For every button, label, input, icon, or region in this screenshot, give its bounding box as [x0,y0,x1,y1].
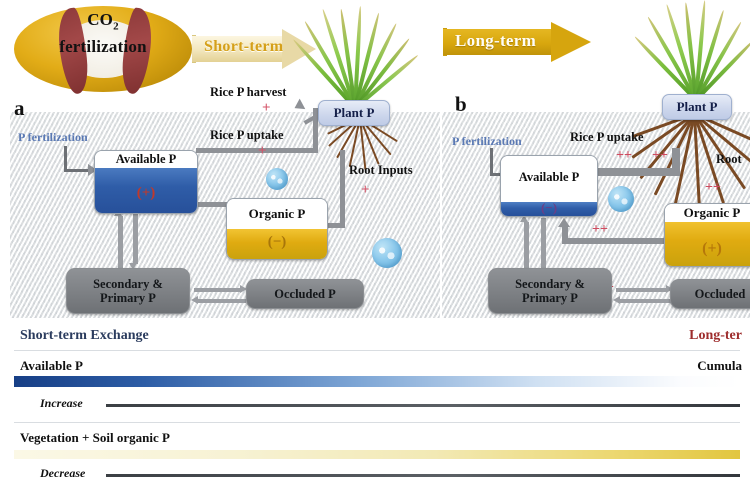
root-inputs-label-a: Root Inputs [349,163,413,178]
uptake-arrow-vert-b [672,148,680,176]
mineralization-arrow-horiz-b [562,238,672,244]
secondary-primary-p-line2-a: Primary P [93,291,163,305]
occluded-p-label-b: Occluded [695,287,746,301]
organic-p-label-b: Organic P [665,204,750,222]
plus-mark-harvest-a: + [262,100,271,117]
rice-p-harvest-label-a: Rice P harvest [210,85,286,100]
p-fertilization-label-b: P fertilization [452,134,522,149]
co2-label-line1: CO [87,10,113,29]
legend-rule-top [14,350,740,351]
legend-cumulative-label: Cumula [697,358,742,374]
plant-p-pool-b[interactable]: Plant P [662,94,732,120]
available-p-label-a: Available P [95,151,197,168]
water-globe-icon-a1 [266,168,288,190]
p-fert-arrow-vert-b [490,148,493,176]
legend-increase-label: Increase [40,396,83,411]
legend-header-short-term: Short-term Exchange [20,328,149,344]
plus-mark-root-b: ++ [705,180,721,196]
secondary-to-avail-up2-b [541,218,546,274]
water-globe-icon-b1 [608,186,634,212]
legend-row2-title: Vegetation + Soil organic P [20,430,170,446]
increase-axis-line [106,404,740,407]
co2-fertilization-label: CO2 fertilization [14,8,192,58]
available-p-label-b: Available P [501,156,597,198]
available-p-pool-b[interactable]: Available P (−) [500,155,598,217]
plant-p-label-a: Plant P [334,105,375,121]
organic-p-sign-b: (+) [665,240,750,258]
plus-mark-root-inputs-a: + [361,182,370,199]
uptake-arrow-b [594,168,678,176]
organic-p-label-a: Organic P [227,199,327,229]
rice-plant-a [298,4,408,108]
plus-mark-uptake-a: + [258,143,267,160]
avail-to-secondary-up-a [118,216,123,268]
occluded-to-secondary-tip-b [613,296,620,304]
occluded-to-secondary-tip-a [191,296,198,304]
rice-p-uptake-label-a: Rice P uptake [210,128,284,143]
secondary-to-occluded-a [194,288,242,292]
decrease-axis-line [106,474,740,477]
secondary-to-avail-up1-b [524,222,529,274]
secondary-primary-p-pool-b[interactable]: Secondary & Primary P [488,268,612,314]
avail-to-secondary-down-a [133,212,138,264]
co2-label-line2: fertilization [59,37,147,56]
rice-plant-b [638,0,750,100]
legend-panel: Short-term Exchange Long-ter Available P… [0,318,750,500]
secondary-primary-p-line1-b: Secondary & [515,277,585,291]
occluded-p-pool-a[interactable]: Occluded P [246,279,364,309]
p-fert-arrow-horiz-a [64,169,90,172]
available-p-gradient-bar [14,376,740,387]
legend-rule-mid [14,422,740,423]
occluded-to-secondary-b [620,299,672,303]
available-p-sign-b: (−) [501,200,597,216]
root-inputs-arrow-vert-a [340,150,345,228]
vegetation-soil-organic-p-gradient-bar [14,450,740,459]
secondary-to-occluded-b [616,288,668,292]
plant-p-label-b: Plant P [677,99,718,115]
panel-a-letter: a [14,96,25,121]
occluded-p-label-a: Occluded P [274,287,335,301]
water-globe-icon-a2 [372,238,402,268]
legend-row1-title: Available P [20,358,83,374]
co2-fertilization-graphic: CO2 fertilization [14,2,192,98]
plant-p-pool-a[interactable]: Plant P [318,100,390,126]
occluded-to-secondary-a [198,299,246,303]
plus-mark-uptake-b2: ++ [652,148,668,164]
available-p-sign-a: (+) [95,185,197,202]
legend-decrease-label: Decrease [40,466,85,481]
secondary-primary-p-pool-a[interactable]: Secondary & Primary P [66,268,190,314]
organic-p-pool-a[interactable]: Organic P (−) [226,198,328,260]
secondary-primary-p-line1-a: Secondary & [93,277,163,291]
occluded-p-pool-b[interactable]: Occluded [670,279,750,309]
plus-mark-uptake-b1: ++ [616,148,632,164]
plus-mark-mineralization-b: ++ [592,222,608,238]
p-fertilization-label-a: P fertilization [18,130,88,145]
organic-p-pool-b[interactable]: Organic P (+) [664,203,750,267]
secondary-primary-p-line2-b: Primary P [515,291,585,305]
mineralization-arrow-corner-b [562,226,568,242]
root-inputs-label-b: Root [716,152,742,167]
rice-p-uptake-label-b: Rice P uptake [570,130,644,145]
organic-p-sign-a: (−) [227,234,327,251]
available-p-pool-a[interactable]: Available P (+) [94,150,198,214]
mineralization-arrow-tip-b [558,218,570,227]
co2-label-subscript: 2 [113,20,119,32]
legend-header-long-term: Long-ter [689,328,742,344]
uptake-arrow-a [196,148,318,153]
figure-root: CO2 fertilization Short-term Long-term a… [0,0,750,500]
short-term-arrow-label: Short-term [204,38,283,56]
